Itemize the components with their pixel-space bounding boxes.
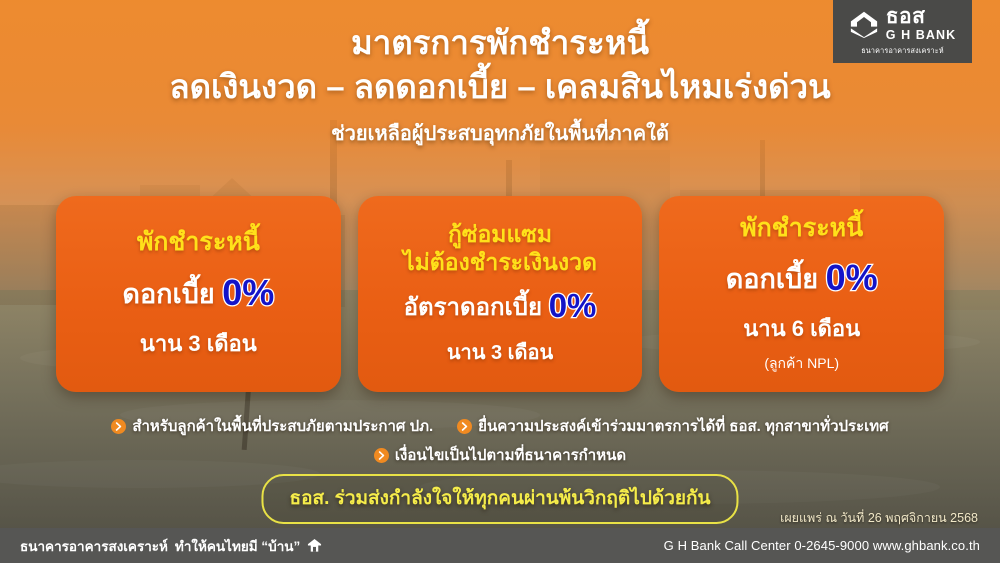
title-line-2: ลดเงินงวด – ลดดอกเบี้ย – เคลมสินไหมเร่งด… [0, 66, 1000, 108]
chevron-right-icon [111, 419, 126, 434]
card-heading: พักชำระหนี้ [137, 227, 260, 258]
measure-card: พักชำระหนี้ ดอกเบี้ย 0% นาน 3 เดือน [56, 196, 341, 392]
condition-text: เงื่อนไขเป็นไปตามที่ธนาคารกำหนด [395, 443, 626, 467]
measure-card: กู้ซ่อมแซม ไม่ต้องชำระเงินงวด อัตราดอกเบ… [358, 196, 643, 392]
measure-cards: พักชำระหนี้ ดอกเบี้ย 0% นาน 3 เดือน กู้ซ… [56, 196, 944, 392]
card-heading: กู้ซ่อมแซม [448, 220, 552, 248]
card-rate-value: 0% [222, 272, 274, 313]
list-item: เงื่อนไขเป็นไปตามที่ธนาคารกำหนด [374, 443, 626, 467]
subtitle: ช่วยเหลือผู้ประสบอุทกภัยในพื้นที่ภาคใต้ [0, 117, 1000, 149]
publish-date: เผยแพร่ ณ วันที่ 26 พฤศจิกายน 2568 [780, 508, 978, 528]
footer-contact: G H Bank Call Center 0-2645-9000 www.ghb… [664, 538, 980, 553]
list-item: สำหรับลูกค้าในพื้นที่ประสบภัยตามประกาศ ป… [111, 414, 433, 438]
footer-bar: ธนาคารอาคารสงเคราะห์ ทำให้คนไทยมี “บ้าน”… [0, 528, 1000, 563]
card-duration: นาน 6 เดือน [743, 311, 860, 346]
conditions-row: สำหรับลูกค้าในพื้นที่ประสบภัยตามประกาศ ป… [0, 414, 1000, 438]
footer-slogan: ทำให้คนไทยมี “บ้าน” [175, 535, 300, 557]
footer-left: ธนาคารอาคารสงเคราะห์ ทำให้คนไทยมี “บ้าน” [20, 535, 322, 557]
card-note: (ลูกค้า NPL) [764, 353, 839, 375]
condition-text: ยื่นความประสงค์เข้าร่วมมาตรการได้ที่ ธอส… [478, 414, 889, 438]
card-rate-line: อัตราดอกเบี้ย 0% [404, 286, 597, 326]
card-rate-line: ดอกเบี้ย 0% [122, 271, 274, 314]
infographic-poster: ธอส G H BANK ธนาคารอาคารสงเคราะห์ มาตรกา… [0, 0, 1000, 563]
card-rate-value: 0% [549, 287, 597, 324]
conditions-list: สำหรับลูกค้าในพื้นที่ประสบภัยตามประกาศ ป… [0, 414, 1000, 467]
chevron-right-icon [374, 448, 389, 463]
card-duration: นาน 3 เดือน [447, 336, 553, 368]
footer-bank-name: ธนาคารอาคารสงเคราะห์ [20, 535, 168, 557]
encouragement-banner: ธอส. ร่วมส่งกำลังใจให้ทุกคนผ่านพ้นวิกฤติ… [261, 474, 738, 524]
condition-text: สำหรับลูกค้าในพื้นที่ประสบภัยตามประกาศ ป… [132, 414, 433, 438]
list-item: ยื่นความประสงค์เข้าร่วมมาตรการได้ที่ ธอส… [457, 414, 889, 438]
headline-block: มาตรการพักชำระหนี้ ลดเงินงวด – ลดดอกเบี้… [0, 22, 1000, 149]
measure-card: พักชำระหนี้ ดอกเบี้ย 0% นาน 6 เดือน (ลูก… [659, 196, 944, 392]
card-rate-value: 0% [826, 257, 878, 298]
card-heading-line2: ไม่ต้องชำระเงินงวด [403, 248, 597, 276]
card-rate-line: ดอกเบี้ย 0% [726, 256, 878, 299]
card-duration: นาน 3 เดือน [140, 326, 257, 361]
card-rate-prefix: ดอกเบี้ย [726, 264, 826, 294]
title-line-1: มาตรการพักชำระหนี้ [0, 22, 1000, 64]
chevron-right-icon [457, 419, 472, 434]
card-rate-prefix: อัตราดอกเบี้ย [404, 294, 549, 321]
card-rate-prefix: ดอกเบี้ย [122, 279, 222, 309]
conditions-row: เงื่อนไขเป็นไปตามที่ธนาคารกำหนด [0, 443, 1000, 467]
house-icon [307, 538, 322, 553]
card-heading: พักชำระหนี้ [740, 213, 863, 244]
